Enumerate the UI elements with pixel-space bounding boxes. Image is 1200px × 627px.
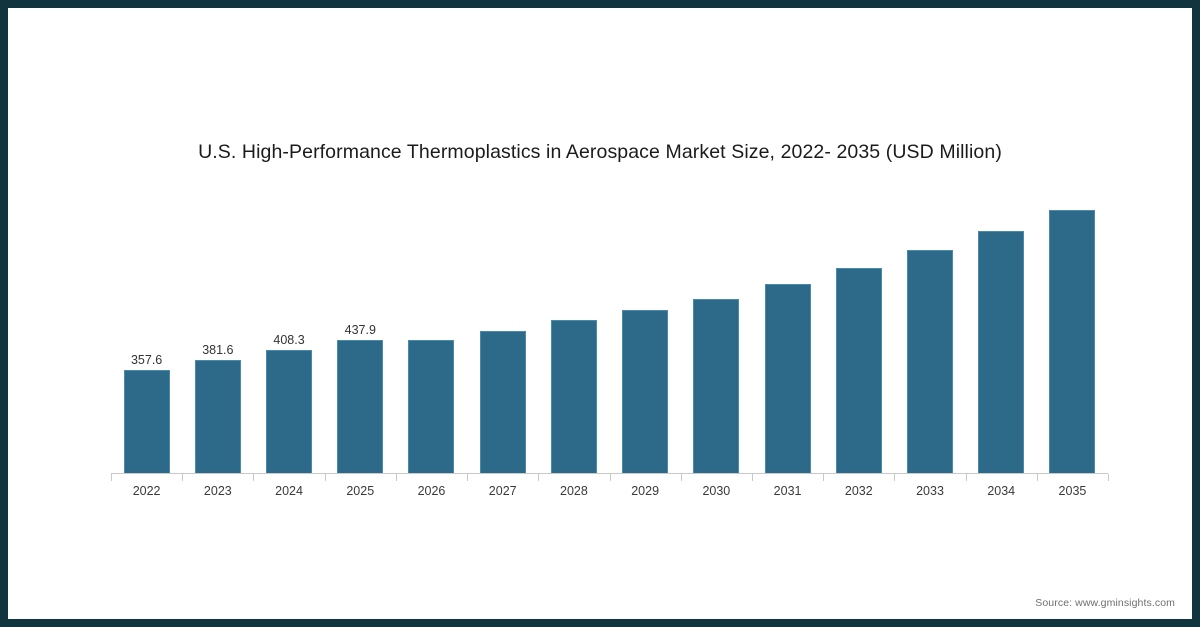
chart-frame: U.S. High-Performance Thermoplastics in … [0, 0, 1200, 627]
bar-slot [538, 193, 609, 474]
bar-value-label: 381.6 [202, 344, 233, 357]
x-axis-label-2026: 2026 [396, 485, 467, 498]
bar-series: 357.6381.6408.3437.9 [111, 193, 1108, 474]
bar-slot [681, 193, 752, 474]
bar[interactable] [836, 268, 882, 474]
bar-slot: 381.6 [182, 193, 253, 474]
chart-title: U.S. High-Performance Thermoplastics in … [8, 141, 1192, 164]
source-attribution: Source: www.gminsights.com [1035, 597, 1175, 609]
bar-slot [467, 193, 538, 474]
axis-tick [1037, 474, 1038, 481]
bar[interactable] [907, 250, 953, 474]
x-axis-label-2033: 2033 [894, 485, 965, 498]
bar[interactable] [622, 310, 668, 474]
bar[interactable]: 357.6 [124, 370, 170, 474]
axis-tick [396, 474, 397, 481]
bar-slot [894, 193, 965, 474]
x-axis-label-2027: 2027 [467, 485, 538, 498]
x-axis-label-2034: 2034 [966, 485, 1037, 498]
axis-tick [681, 474, 682, 481]
bar[interactable] [978, 231, 1024, 474]
bar-value-label: 357.6 [131, 354, 162, 367]
bar-slot: 437.9 [325, 193, 396, 474]
bar[interactable] [765, 284, 811, 474]
x-axis-label-2031: 2031 [752, 485, 823, 498]
axis-tick [1108, 474, 1109, 481]
bar-slot [396, 193, 467, 474]
x-axis-label-2030: 2030 [681, 485, 752, 498]
axis-tick [966, 474, 967, 481]
axis-tick [538, 474, 539, 481]
x-axis-label-2025: 2025 [325, 485, 396, 498]
bar[interactable] [551, 320, 597, 474]
axis-tick [894, 474, 895, 481]
bar-slot: 357.6 [111, 193, 182, 474]
bar-slot: 408.3 [253, 193, 324, 474]
x-axis-ticks [111, 474, 1108, 481]
bar[interactable] [693, 299, 739, 474]
axis-tick [182, 474, 183, 481]
bar-value-label: 437.9 [345, 324, 376, 337]
bar[interactable] [408, 340, 454, 474]
x-axis-label-2032: 2032 [823, 485, 894, 498]
axis-tick [325, 474, 326, 481]
bar-slot [610, 193, 681, 474]
x-axis-labels: 2022202320242025202620272028202920302031… [111, 485, 1108, 498]
axis-tick [253, 474, 254, 481]
axis-tick [111, 474, 112, 481]
x-axis-label-2035: 2035 [1037, 485, 1108, 498]
x-axis-label-2024: 2024 [253, 485, 324, 498]
x-axis-label-2023: 2023 [182, 485, 253, 498]
axis-tick [752, 474, 753, 481]
bar[interactable] [480, 331, 526, 474]
bar-slot [823, 193, 894, 474]
bar[interactable] [1049, 210, 1095, 474]
bar[interactable]: 381.6 [195, 360, 241, 474]
bar-value-label: 408.3 [273, 334, 304, 347]
x-axis-label-2028: 2028 [538, 485, 609, 498]
axis-tick [823, 474, 824, 481]
x-axis-label-2022: 2022 [111, 485, 182, 498]
axis-tick [467, 474, 468, 481]
plot-area: 357.6381.6408.3437.9 [111, 193, 1108, 474]
bar[interactable]: 408.3 [266, 350, 312, 474]
bar[interactable]: 437.9 [337, 340, 383, 474]
axis-tick [610, 474, 611, 481]
bar-slot [752, 193, 823, 474]
bar-slot [966, 193, 1037, 474]
bar-slot [1037, 193, 1108, 474]
x-axis-label-2029: 2029 [610, 485, 681, 498]
